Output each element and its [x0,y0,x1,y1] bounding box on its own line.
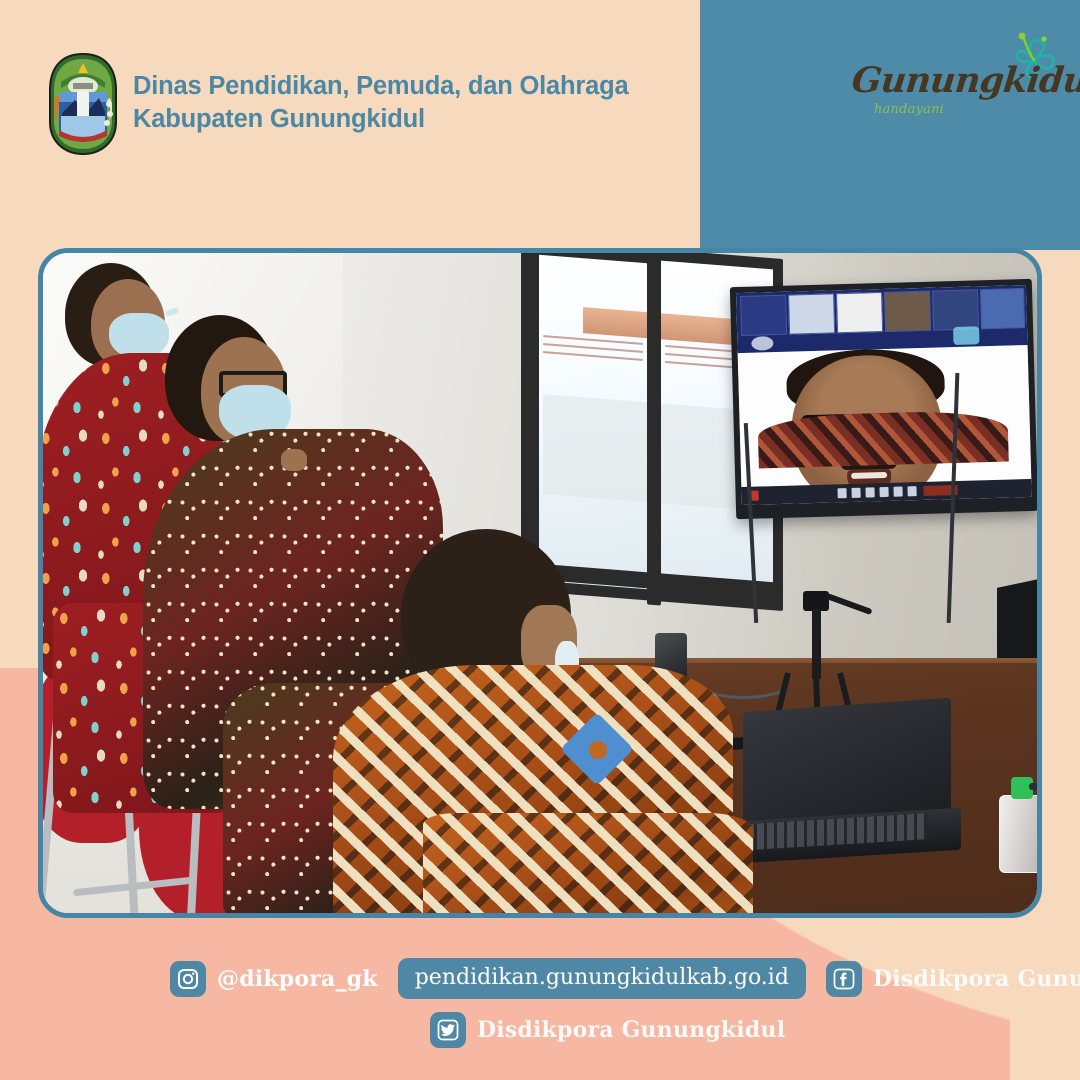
window-mullion-center [647,258,661,605]
participant-thumbnail [788,293,835,334]
taskbar-icon [907,486,916,496]
participant-thumbnail [836,292,883,333]
gunungkidul-regency-crest-icon [47,52,119,156]
sanitizer-nozzle [1029,783,1037,790]
tripod-head [803,591,829,611]
taskbar-icon [865,487,874,497]
poster-footer: @dikpora_gk pendidikan.gunungkidulkab.go… [0,940,1080,1080]
brand-wordmark: Gunungkidul [850,60,1054,101]
remote-speaker-teeth [851,472,887,479]
wall-mounted-television [730,279,1037,519]
tv-screen [736,285,1032,505]
participant-thumbnail [884,291,931,332]
taskbar-icon [893,487,902,497]
taskbar-icon [837,488,846,498]
title-line-2: Kabupaten Gunungkidul [133,103,733,136]
facebook-icon[interactable] [826,961,862,997]
taskbar-icon [851,488,860,498]
participant-thumbnail [932,289,979,330]
participant-thumbnail [740,295,787,336]
twitter-icon[interactable] [430,1012,466,1048]
poster-header: Dinas Pendidikan, Pemuda, dan Olahraga K… [0,0,760,200]
website-url-label: pendidikan.gunungkidulkab.go.id [415,965,789,990]
video-conference-meeting-photo [43,253,1037,913]
title-line-1: Dinas Pendidikan, Pemuda, dan Olahraga [133,72,628,100]
gunungkidul-brandmark: Gunungkidul handayani [852,36,1062,132]
taskbar-icon [879,487,888,497]
orange-batik-shirt-lower [423,813,753,913]
brand-tagline: handayani [874,102,944,117]
twitter-label: Disdikpora Gunungkidul [477,1017,785,1043]
instagram-label: @dikpora_gk [217,966,378,992]
instagram-icon[interactable] [170,961,206,997]
instagram-handle[interactable]: @dikpora_gk [170,961,378,997]
batik-motif-dot [589,741,607,759]
website-url-pill[interactable]: pendidikan.gunungkidulkab.go.id [398,958,806,999]
hand-sanitizer-bottle [999,795,1037,873]
participant-thumbnail [980,288,1025,329]
photo-frame [38,248,1042,918]
video-call-main-view [738,343,1032,487]
footer-row-secondary: Disdikpora Gunungkidul [430,1012,805,1048]
footer-row-primary: @dikpora_gk pendidikan.gunungkidulkab.go… [170,958,1080,999]
filmstrip-logo [953,326,979,345]
facebook-label: Disdikpora Gunungkidul [873,966,1080,992]
page-title: Dinas Pendidikan, Pemuda, dan Olahraga K… [133,70,733,136]
tripod-column [812,609,821,679]
filmstrip-emblem [751,336,773,351]
participant-filmstrip [736,285,1028,353]
facebook-handle[interactable]: Disdikpora Gunungkidul [826,961,1080,997]
twitter-handle[interactable]: Disdikpora Gunungkidul [430,1012,785,1048]
poster-canvas: Dinas Pendidikan, Pemuda, dan Olahraga K… [0,0,1080,1080]
attendee-hand [281,449,307,471]
